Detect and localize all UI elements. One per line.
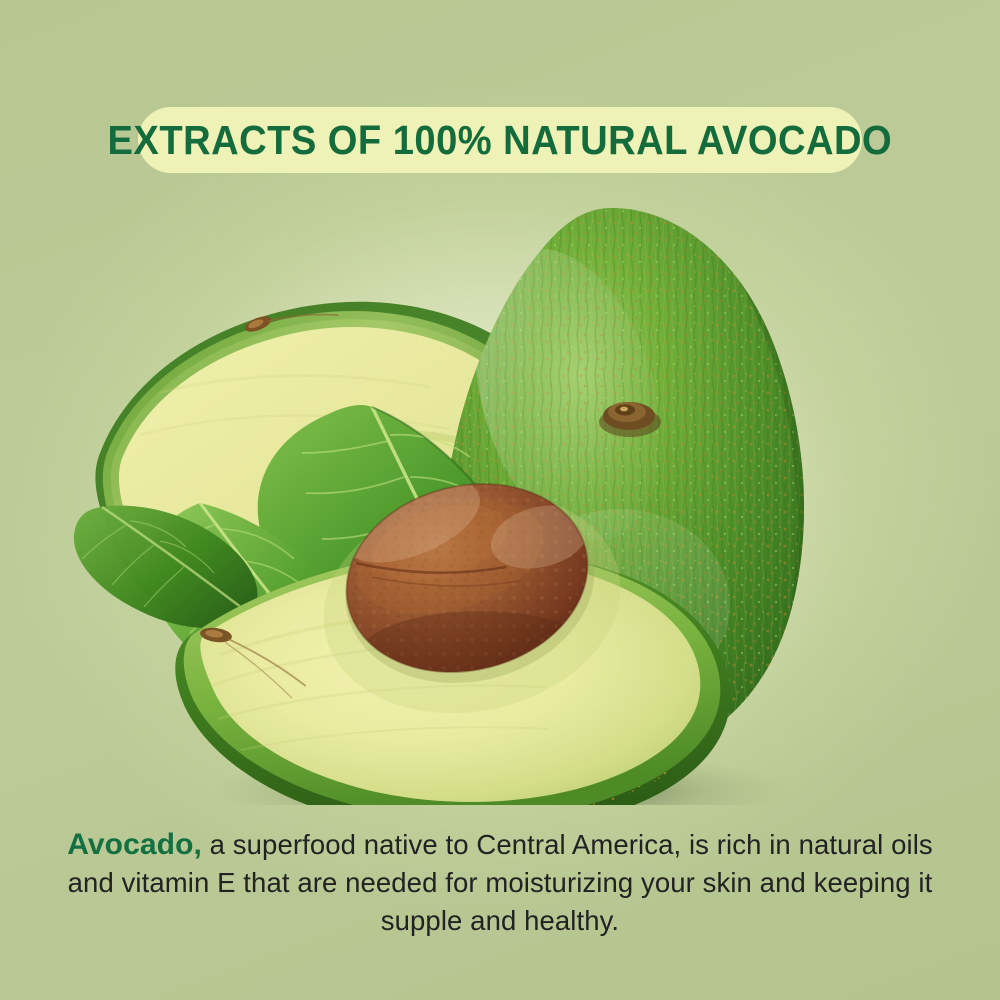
page-title: EXTRACTS OF 100% NATURAL AVOCADO xyxy=(108,120,893,161)
title-banner: EXTRACTS OF 100% NATURAL AVOCADO xyxy=(138,107,862,173)
product-card: EXTRACTS OF 100% NATURAL AVOCADO xyxy=(0,0,1000,1000)
description-lead: Avocado, xyxy=(67,828,202,861)
description-text: Avocado, a superfood native to Central A… xyxy=(50,826,950,940)
avocado-hero-image xyxy=(0,185,1000,805)
